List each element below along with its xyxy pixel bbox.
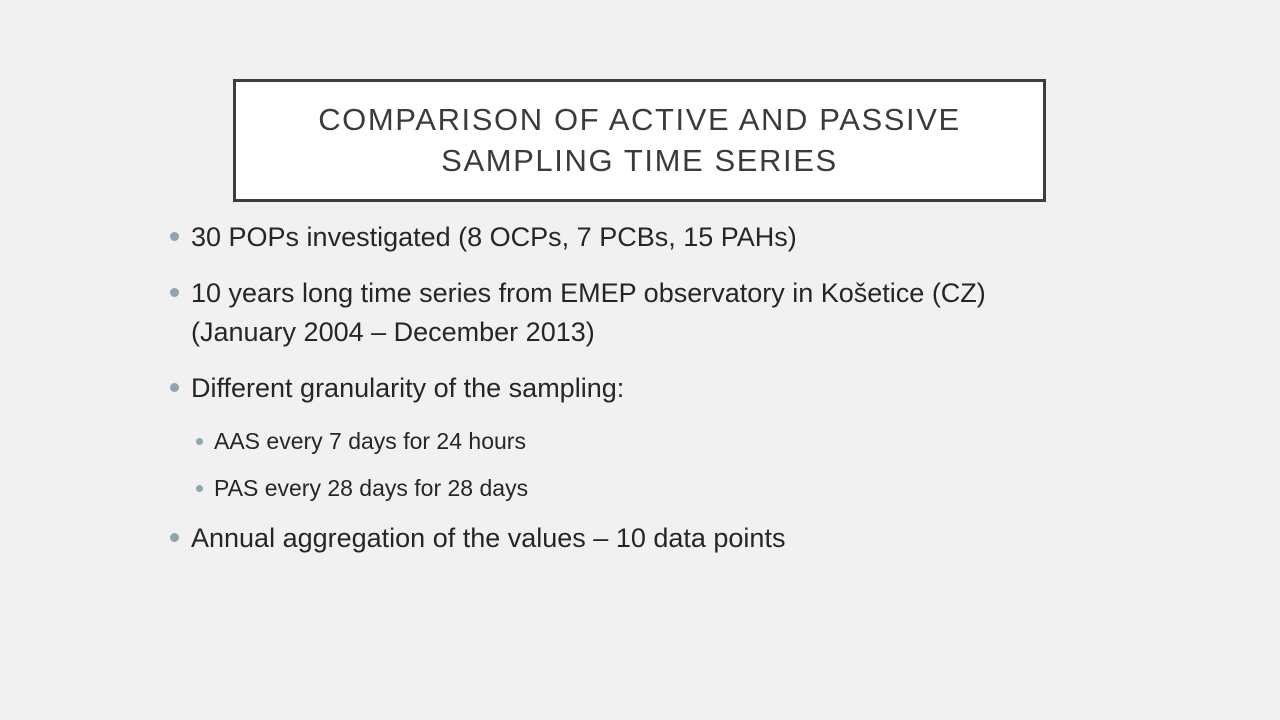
sub-list-item-label: AAS every 7 days for 24 hours bbox=[214, 425, 526, 458]
list-item: 30 POPs investigated (8 OCPs, 7 PCBs, 15… bbox=[170, 218, 1170, 256]
sub-list-item: PAS every 28 days for 28 days bbox=[196, 472, 1170, 505]
list-item-label: Annual aggregation of the values – 10 da… bbox=[191, 519, 785, 557]
sub-list-item: AAS every 7 days for 24 hours bbox=[196, 425, 1170, 458]
list-item-label: 10 years long time series from EMEP obse… bbox=[191, 274, 1071, 351]
slide-canvas: COMPARISON OF ACTIVE AND PASSIVE SAMPLIN… bbox=[0, 0, 1280, 720]
list-item-label: 30 POPs investigated (8 OCPs, 7 PCBs, 15… bbox=[191, 218, 797, 256]
bullet-dot-icon bbox=[170, 533, 179, 542]
bullet-dot-icon bbox=[170, 232, 179, 241]
bullet-dot-icon bbox=[170, 288, 179, 297]
bullet-dot-icon bbox=[196, 438, 203, 445]
sub-list-item-label: PAS every 28 days for 28 days bbox=[214, 472, 528, 505]
list-item: Different granularity of the sampling: bbox=[170, 369, 1170, 407]
list-item: 10 years long time series from EMEP obse… bbox=[170, 274, 1170, 351]
bullet-dot-icon bbox=[196, 485, 203, 492]
page-title: COMPARISON OF ACTIVE AND PASSIVE SAMPLIN… bbox=[304, 100, 975, 182]
bullet-dot-icon bbox=[170, 383, 179, 392]
slide-body-content: 30 POPs investigated (8 OCPs, 7 PCBs, 15… bbox=[170, 218, 1170, 575]
list-item-label: Different granularity of the sampling: bbox=[191, 369, 624, 407]
list-item: Annual aggregation of the values – 10 da… bbox=[170, 519, 1170, 557]
slide-title-box: COMPARISON OF ACTIVE AND PASSIVE SAMPLIN… bbox=[233, 79, 1046, 202]
